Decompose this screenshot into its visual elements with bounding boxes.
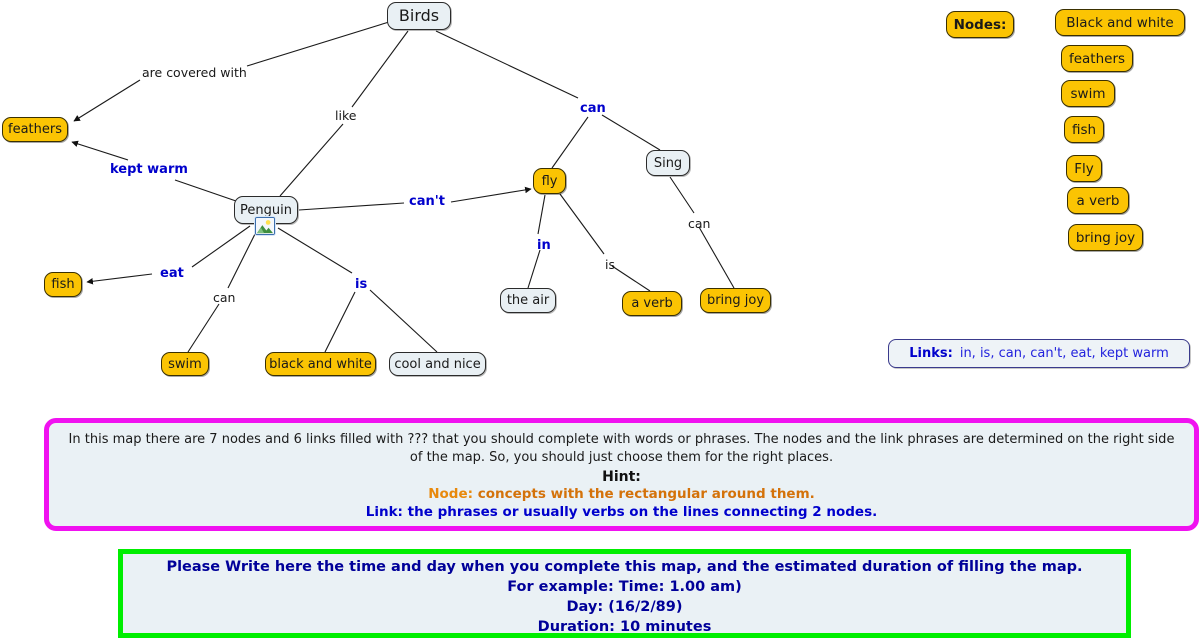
edge-penguin-cant — [299, 203, 404, 210]
time-box-line-1: Please Write here the time and day when … — [133, 558, 1116, 578]
map-node-birds[interactable]: Birds — [387, 2, 451, 30]
node-option-a-verb[interactable]: a verb — [1067, 187, 1129, 214]
edge-keptwarm-feathers — [72, 142, 128, 160]
instruction-hint-link: Link: the phrases or usually verbs on th… — [63, 504, 1180, 520]
edge-birds-feathers-a — [247, 22, 389, 66]
map-node-bring-joy[interactable]: bring joy — [700, 288, 771, 313]
map-node-a-verb[interactable]: a verb — [622, 291, 682, 316]
hint-link-label: Link: — [366, 504, 403, 520]
map-link-label-in-fly[interactable]: in — [537, 239, 551, 252]
edge-in-theair — [528, 250, 540, 288]
map-link-label-can-penguin[interactable]: can — [213, 292, 235, 305]
node-option-fly[interactable]: Fly — [1066, 155, 1102, 182]
links-legend-label: Links: — [909, 346, 953, 361]
map-link-label-cant[interactable]: can't — [409, 195, 445, 208]
edge-penguin-keptwarm — [175, 180, 236, 201]
map-node-fly[interactable]: fly — [533, 168, 566, 194]
map-node-fish[interactable]: fish — [44, 272, 82, 297]
edge-birds-like — [352, 31, 408, 107]
edge-can-sing — [602, 115, 660, 150]
links-legend-box: Links: in, is, can, can't, eat, kept war… — [888, 339, 1190, 368]
edge-penguin-can — [228, 228, 258, 288]
map-node-swim[interactable]: swim — [161, 352, 209, 376]
hint-link-text: the phrases or usually verbs on the line… — [403, 504, 877, 520]
edge-like-penguin — [280, 124, 343, 196]
node-option-fish[interactable]: fish — [1064, 116, 1104, 143]
map-link-label-like[interactable]: like — [335, 110, 356, 123]
edge-is-averb — [612, 266, 650, 291]
edge-birds-feathers-b — [74, 80, 140, 121]
map-node-sing[interactable]: Sing — [646, 150, 690, 176]
map-node-cool-nice[interactable]: cool and nice — [389, 352, 486, 376]
instruction-hint-node: Node: concepts with the rectangular arou… — [63, 486, 1180, 502]
edge-can-bringjoy — [699, 227, 734, 288]
edge-can-fly — [552, 117, 588, 168]
edge-eat-fish — [87, 274, 152, 282]
node-option-bring-joy[interactable]: bring joy — [1068, 224, 1143, 251]
hint-node-label: Node: — [428, 486, 473, 502]
instruction-hint-title: Hint: — [63, 469, 1180, 485]
map-link-label-can-sing[interactable]: can — [688, 218, 710, 231]
map-link-label-is-fly[interactable]: is — [605, 259, 615, 272]
edge-is-blackwhite — [325, 292, 355, 352]
edge-is-coolnice — [370, 290, 437, 352]
edge-penguin-is — [278, 228, 352, 273]
node-option-black-and-white[interactable]: Black and white — [1055, 9, 1185, 36]
links-legend-value: in, is, can, can't, eat, kept warm — [960, 346, 1169, 361]
edge-birds-can — [436, 31, 578, 98]
map-link-label-kept-warm[interactable]: kept warm — [110, 163, 188, 176]
time-box-line-3: Day: (16/2/89) — [133, 598, 1116, 618]
node-option-swim[interactable]: swim — [1061, 80, 1115, 107]
edge-sing-can — [670, 177, 694, 213]
picture-attachment-icon[interactable] — [255, 217, 275, 235]
time-box-line-4: Duration: 10 minutes — [133, 618, 1116, 638]
instruction-box: In this map there are 7 nodes and 6 link… — [44, 418, 1199, 531]
hint-node-text: concepts with the rectangular around the… — [473, 486, 815, 502]
time-box-line-2: For example: Time: 1.00 am) — [133, 578, 1116, 598]
map-node-black-white[interactable]: black and white — [265, 352, 376, 376]
time-entry-box[interactable]: Please Write here the time and day when … — [118, 549, 1131, 638]
map-link-label-eat[interactable]: eat — [160, 267, 184, 280]
edge-fly-is — [560, 194, 604, 254]
instruction-paragraph: In this map there are 7 nodes and 6 link… — [63, 431, 1180, 468]
map-node-feathers[interactable]: feathers — [2, 117, 68, 142]
map-link-label-is-penguin[interactable]: is — [355, 278, 367, 291]
node-option-feathers[interactable]: feathers — [1061, 45, 1133, 72]
map-link-label-are-covered-with[interactable]: are covered with — [142, 67, 247, 80]
map-link-label-can-top[interactable]: can — [580, 102, 606, 115]
edge-can-swim — [188, 304, 219, 352]
map-node-the-air[interactable]: the air — [500, 288, 556, 313]
nodes-panel-header: Nodes: — [946, 11, 1014, 38]
edge-fly-in — [538, 195, 545, 234]
picture-glyph — [256, 218, 274, 234]
edge-cant-fly — [451, 189, 531, 202]
